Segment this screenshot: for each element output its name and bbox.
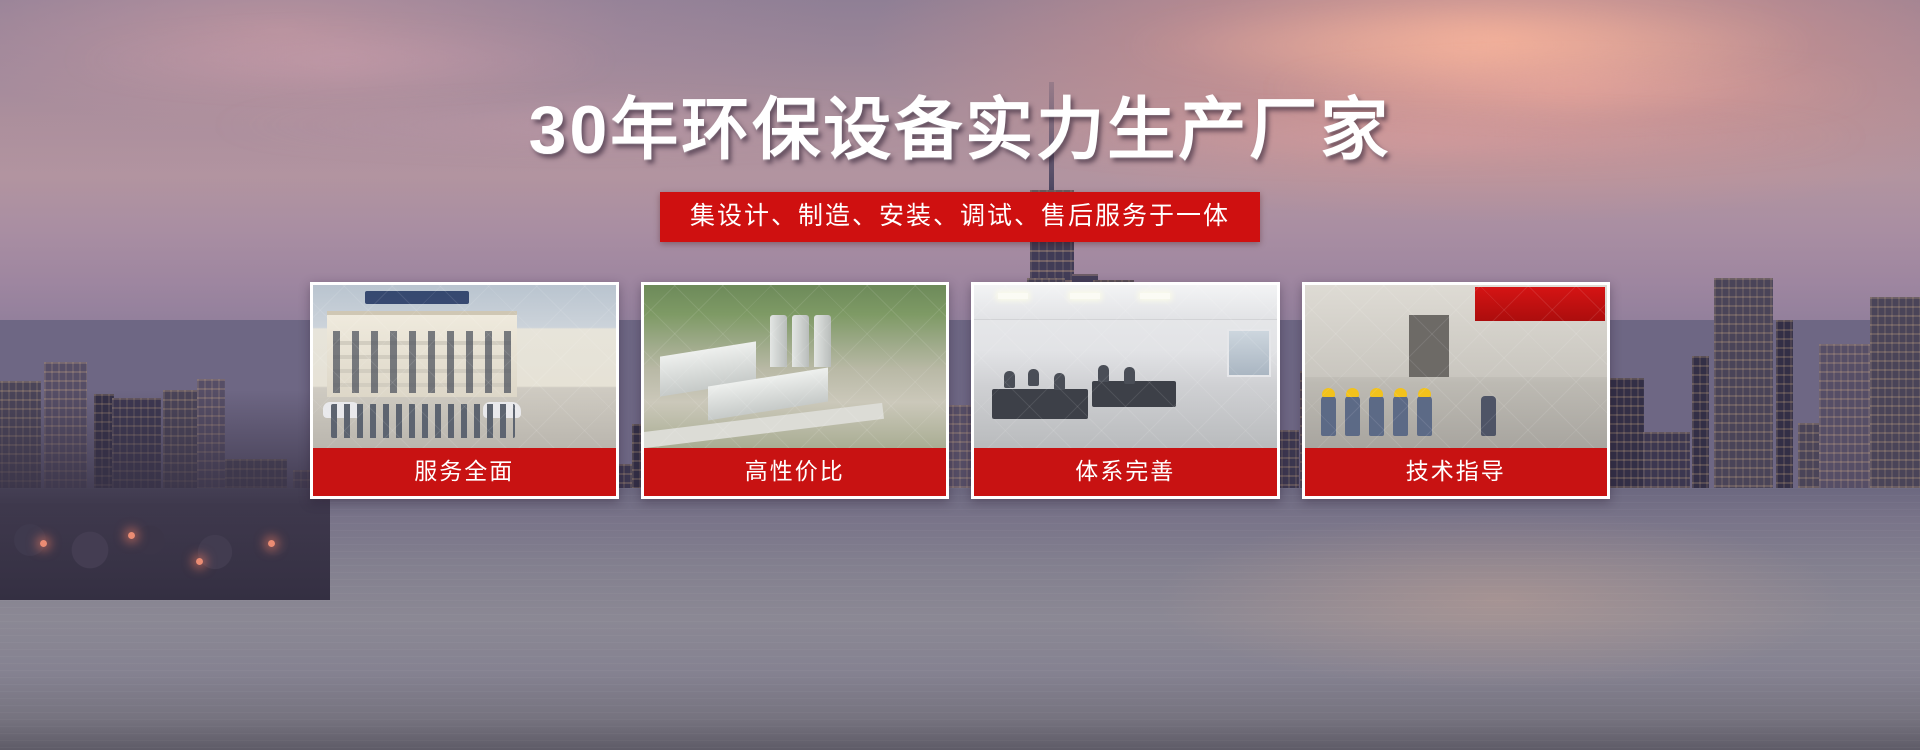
subtitle-container: 集设计、制造、安装、调试、售后服务于一体 xyxy=(0,192,1920,242)
storage-silo xyxy=(770,315,787,367)
skyline-building xyxy=(1819,344,1870,510)
aerial-factory-photo xyxy=(644,285,947,448)
bank-light xyxy=(268,540,275,547)
card-caption: 技术指导 xyxy=(1305,448,1608,496)
window xyxy=(1227,329,1271,377)
worker xyxy=(1345,396,1360,436)
building-facade xyxy=(327,311,517,397)
skyline-building xyxy=(1692,356,1709,510)
cloud-band xyxy=(1120,18,1820,72)
feature-card-list: 服务全面 高性价比 xyxy=(310,282,1610,499)
card-caption: 高性价比 xyxy=(644,448,947,496)
skyline-building xyxy=(1870,297,1920,510)
ceiling-light xyxy=(1140,293,1170,299)
seated-person xyxy=(1098,365,1109,382)
seated-person xyxy=(1124,367,1135,384)
office-building-photo xyxy=(313,285,616,448)
worker xyxy=(1321,396,1336,436)
cloud-band xyxy=(60,40,620,80)
feature-card[interactable]: 体系完善 xyxy=(971,282,1280,499)
storage-silo xyxy=(792,315,809,367)
skyline-building xyxy=(1776,320,1793,510)
feature-card[interactable]: 技术指导 xyxy=(1302,282,1611,499)
worker xyxy=(1393,396,1408,436)
ceiling-light xyxy=(1070,293,1100,299)
feature-card[interactable]: 服务全面 xyxy=(310,282,619,499)
page-title: 30年环保设备实力生产厂家 xyxy=(0,96,1920,164)
workshop-workers-photo xyxy=(1305,285,1608,448)
hero-banner: 30年环保设备实力生产厂家 集设计、制造、安装、调试、售后服务于一体 服务全面 xyxy=(0,0,1920,750)
desk xyxy=(992,389,1088,419)
card-caption: 体系完善 xyxy=(974,448,1277,496)
seated-person xyxy=(1054,373,1065,390)
ceiling-light xyxy=(998,293,1028,299)
storage-silo xyxy=(814,315,831,367)
hardhat-icon xyxy=(1394,388,1407,397)
seated-person xyxy=(1004,371,1015,388)
desk xyxy=(1092,381,1176,407)
skyline-building xyxy=(1714,278,1773,510)
worker xyxy=(1417,396,1432,436)
seated-person xyxy=(1028,369,1039,386)
hardhat-icon xyxy=(1370,388,1383,397)
red-banner xyxy=(1475,287,1605,321)
office-interior-photo xyxy=(974,285,1277,448)
supervisor xyxy=(1481,396,1496,436)
feature-card[interactable]: 高性价比 xyxy=(641,282,950,499)
ceiling xyxy=(974,285,1277,320)
river-reflection-glow xyxy=(1150,510,1850,690)
company-sign xyxy=(365,291,469,304)
workshop-door xyxy=(1409,315,1449,377)
bank-light xyxy=(196,558,203,565)
staff-lineup xyxy=(331,404,515,438)
bank-light xyxy=(40,540,47,547)
riverbank-trees xyxy=(0,390,330,600)
hardhat-icon xyxy=(1418,388,1431,397)
worker xyxy=(1369,396,1384,436)
bank-light xyxy=(128,532,135,539)
card-caption: 服务全面 xyxy=(313,448,616,496)
hardhat-icon xyxy=(1322,388,1335,397)
subtitle-badge: 集设计、制造、安装、调试、售后服务于一体 xyxy=(660,192,1260,242)
hardhat-icon xyxy=(1346,388,1359,397)
